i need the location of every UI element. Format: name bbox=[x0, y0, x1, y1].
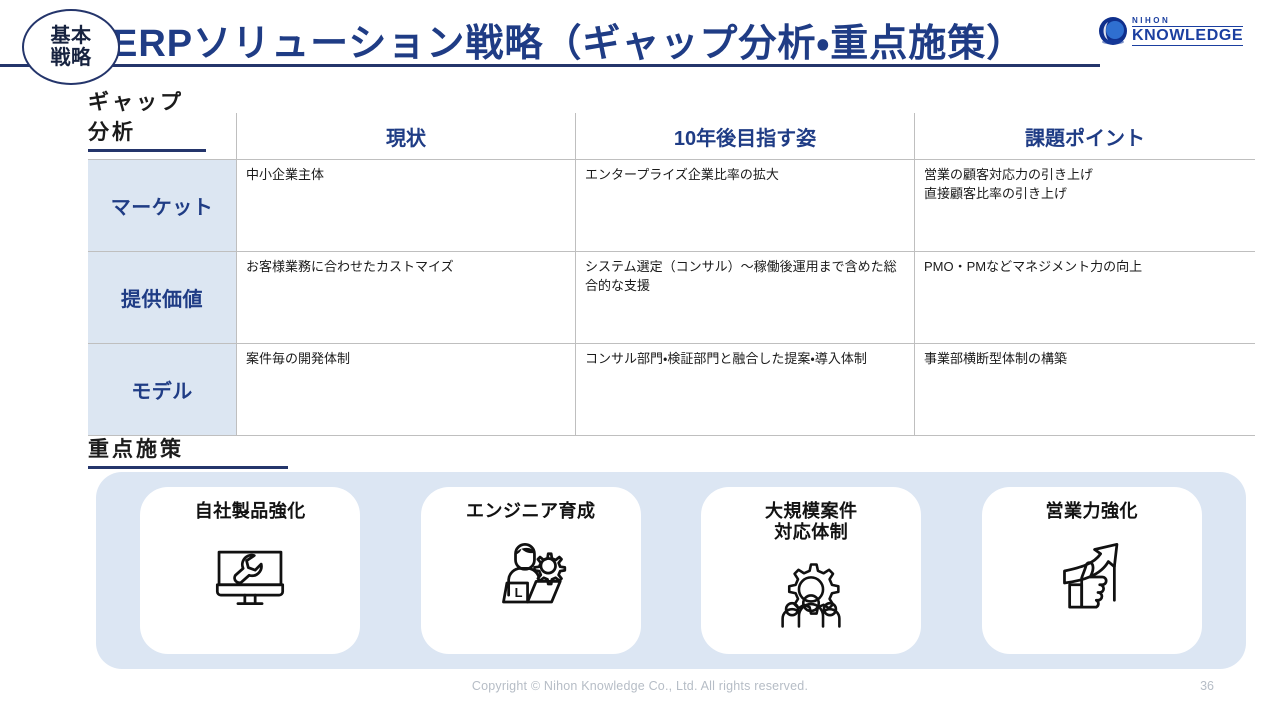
table-row: モデル 案件毎の開発体制 コンサル部門・検証部門と融合した提案・導入体制 事業部… bbox=[88, 344, 1255, 436]
cell-text: 事業部横断型体制の構築 bbox=[924, 350, 1247, 369]
column-header-future: 10年後目指す姿 bbox=[576, 113, 915, 160]
focus-card-title: 大規模案件 対応体制 bbox=[765, 501, 858, 543]
row-label-value: 提供価値 bbox=[88, 252, 237, 344]
column-header-issues: 課題ポイント bbox=[915, 113, 1256, 160]
cell-market-issue: 営業の顧客対応力の引き上げ 直接顧客比率の引き上げ bbox=[915, 160, 1256, 252]
focus-measures-card-list: 自社製品強化 エンジニア育成 bbox=[96, 472, 1246, 669]
badge-line-1: 基本 bbox=[51, 25, 92, 47]
cell-text: エンタープライズ企業比率の拡大 bbox=[585, 166, 906, 185]
footer-page-number: 36 bbox=[1200, 679, 1214, 693]
thumbs-up-arrow-icon bbox=[1049, 528, 1135, 614]
cell-value-current: お客様業務に合わせたカストマイズ bbox=[237, 252, 576, 344]
section-heading-focus-measures: 重点施策 bbox=[88, 433, 288, 469]
engineer-gear-icon: L bbox=[488, 528, 574, 614]
cell-text: コンサル部門・検証部門と融合した提案・導入体制 bbox=[585, 350, 906, 369]
cell-market-current: 中小企業主体 bbox=[237, 160, 576, 252]
table-header-row: 現状 10年後目指す姿 課題ポイント bbox=[88, 113, 1255, 160]
table-corner-cell bbox=[88, 113, 237, 160]
table-row: 提供価値 お客様業務に合わせたカストマイズ システム選定（コンサル）～稼働後運用… bbox=[88, 252, 1255, 344]
cell-text: お客様業務に合わせたカストマイズ bbox=[246, 258, 567, 277]
column-header-current: 現状 bbox=[237, 113, 576, 160]
gap-analysis-table: 現状 10年後目指す姿 課題ポイント マーケット 中小企業主体 エンタープライズ… bbox=[88, 113, 1255, 436]
monitor-wrench-icon bbox=[207, 528, 293, 614]
page-title: ERPソリューション戦略（ギャップ分析・重点施策） bbox=[112, 12, 1025, 67]
company-logo: NIHON KNOWLEDGE bbox=[1098, 16, 1266, 46]
cell-value-future: システム選定（コンサル）～稼働後運用まで含めた総合的な支援 bbox=[576, 252, 915, 344]
row-label-model: モデル bbox=[88, 344, 237, 436]
cell-text: PMO・PMなどマネジメント力の向上 bbox=[924, 258, 1247, 277]
basic-strategy-badge: 基本 戦略 bbox=[22, 9, 120, 85]
focus-card-sales-strength[interactable]: 営業力強化 bbox=[982, 487, 1202, 654]
cell-text: システム選定（コンサル）～稼働後運用まで含めた総合的な支援 bbox=[585, 258, 906, 296]
focus-card-large-project[interactable]: 大規模案件 対応体制 bbox=[701, 487, 921, 654]
cell-text: 営業の顧客対応力の引き上げ 直接顧客比率の引き上げ bbox=[924, 166, 1247, 204]
cell-text: 案件毎の開発体制 bbox=[246, 350, 567, 369]
logo-wordmark: NIHON KNOWLEDGE bbox=[1132, 17, 1243, 46]
footer-copyright: Copyright © Nihon Knowledge Co., Ltd. Al… bbox=[0, 679, 1280, 693]
badge-line-2: 戦略 bbox=[51, 47, 92, 69]
globe-icon bbox=[1098, 16, 1128, 46]
table-row: マーケット 中小企業主体 エンタープライズ企業比率の拡大 営業の顧客対応力の引き… bbox=[88, 160, 1255, 252]
focus-card-title: 自社製品強化 bbox=[195, 501, 306, 522]
cell-text: 中小企業主体 bbox=[246, 166, 567, 185]
cell-model-current: 案件毎の開発体制 bbox=[237, 344, 576, 436]
cell-model-issue: 事業部横断型体制の構築 bbox=[915, 344, 1256, 436]
logo-knowledge-text: KNOWLEDGE bbox=[1132, 28, 1243, 46]
logo-nihon-text: NIHON bbox=[1132, 17, 1243, 27]
row-label-market: マーケット bbox=[88, 160, 237, 252]
svg-text:L: L bbox=[514, 585, 522, 600]
focus-card-engineer-training[interactable]: エンジニア育成 L bbox=[421, 487, 641, 654]
team-gear-icon bbox=[768, 549, 854, 635]
focus-card-title: 営業力強化 bbox=[1046, 501, 1139, 522]
cell-model-future: コンサル部門・検証部門と融合した提案・導入体制 bbox=[576, 344, 915, 436]
slide-canvas: 基本 戦略 ERPソリューション戦略（ギャップ分析・重点施策） NIHON KN… bbox=[0, 0, 1280, 720]
cell-market-future: エンタープライズ企業比率の拡大 bbox=[576, 160, 915, 252]
focus-card-own-product[interactable]: 自社製品強化 bbox=[140, 487, 360, 654]
cell-value-issue: PMO・PMなどマネジメント力の向上 bbox=[915, 252, 1256, 344]
focus-card-title: エンジニア育成 bbox=[466, 501, 596, 522]
